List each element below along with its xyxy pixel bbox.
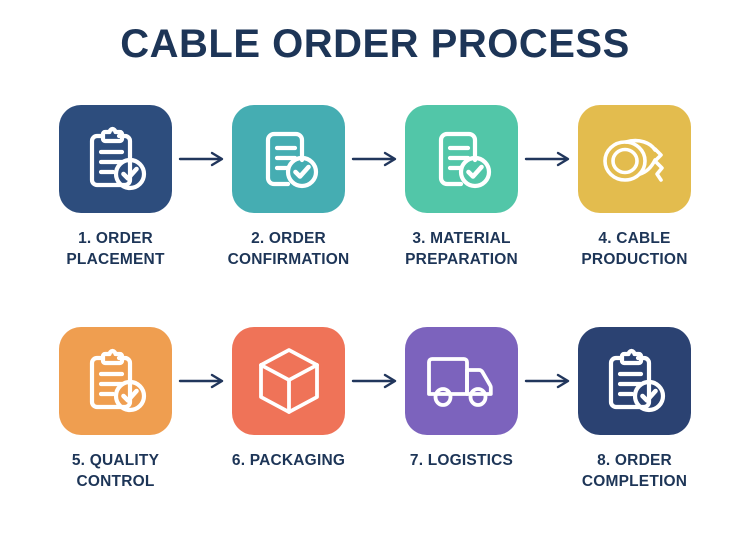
document-check-icon <box>427 124 497 194</box>
process-step-1[interactable]: 1. ORDER PLACEMENT <box>59 105 172 271</box>
clipboard-check-icon <box>81 124 151 194</box>
process-arrow-3 <box>518 105 578 213</box>
process-step-2[interactable]: 2. ORDER CONFIRMATION <box>232 105 345 271</box>
process-step-7[interactable]: 7. LOGISTICS <box>405 327 518 472</box>
process-step-8[interactable]: 8. ORDER COMPLETION <box>578 327 691 493</box>
arrow-right-icon <box>524 372 572 390</box>
document-check-icon <box>254 124 324 194</box>
arrow-right-icon <box>351 150 399 168</box>
step-label-7: 7. LOGISTICS <box>382 451 542 472</box>
arrow-right-icon <box>178 372 226 390</box>
infographic-canvas: CABLE ORDER PROCESS 1. ORDER PL <box>0 0 750 551</box>
arrow-right-icon <box>178 150 226 168</box>
step-tile-5[interactable] <box>59 327 172 435</box>
step-tile-3[interactable] <box>405 105 518 213</box>
step-tile-7[interactable] <box>405 327 518 435</box>
arrow-right-icon <box>524 150 572 168</box>
step-tile-2[interactable] <box>232 105 345 213</box>
step-tile-6[interactable] <box>232 327 345 435</box>
process-row-top: 1. ORDER PLACEMENT <box>0 105 750 271</box>
step-label-8: 8. ORDER COMPLETION <box>555 451 715 493</box>
process-step-4[interactable]: 4. CABLE PRODUCTION <box>578 105 691 271</box>
step-label-1: 1. ORDER PLACEMENT <box>36 229 196 271</box>
delivery-truck-icon <box>424 352 500 410</box>
process-arrow-1 <box>172 105 232 213</box>
process-arrow-4 <box>172 327 232 435</box>
page-title: CABLE ORDER PROCESS <box>0 22 750 66</box>
step-label-6: 6. PACKAGING <box>209 451 369 472</box>
step-label-2: 2. ORDER CONFIRMATION <box>209 229 369 271</box>
step-tile-4[interactable] <box>578 105 691 213</box>
step-tile-8[interactable] <box>578 327 691 435</box>
process-step-3[interactable]: 3. MATERIAL PREPARATION <box>405 105 518 271</box>
arrow-right-icon <box>351 372 399 390</box>
box-cube-icon <box>255 345 323 417</box>
process-step-5[interactable]: 5. QUALITY CONTROL <box>59 327 172 493</box>
process-arrow-5 <box>345 327 405 435</box>
clipboard-check-icon <box>81 346 151 416</box>
process-arrow-2 <box>345 105 405 213</box>
step-label-4: 4. CABLE PRODUCTION <box>555 229 715 271</box>
step-tile-1[interactable] <box>59 105 172 213</box>
process-row-bottom: 5. QUALITY CONTROL <box>0 327 750 493</box>
process-step-6[interactable]: 6. PACKAGING <box>232 327 345 472</box>
cable-coil-icon <box>599 128 671 190</box>
step-label-5: 5. QUALITY CONTROL <box>36 451 196 493</box>
clipboard-check-icon <box>600 346 670 416</box>
process-arrow-6 <box>518 327 578 435</box>
step-label-3: 3. MATERIAL PREPARATION <box>382 229 542 271</box>
